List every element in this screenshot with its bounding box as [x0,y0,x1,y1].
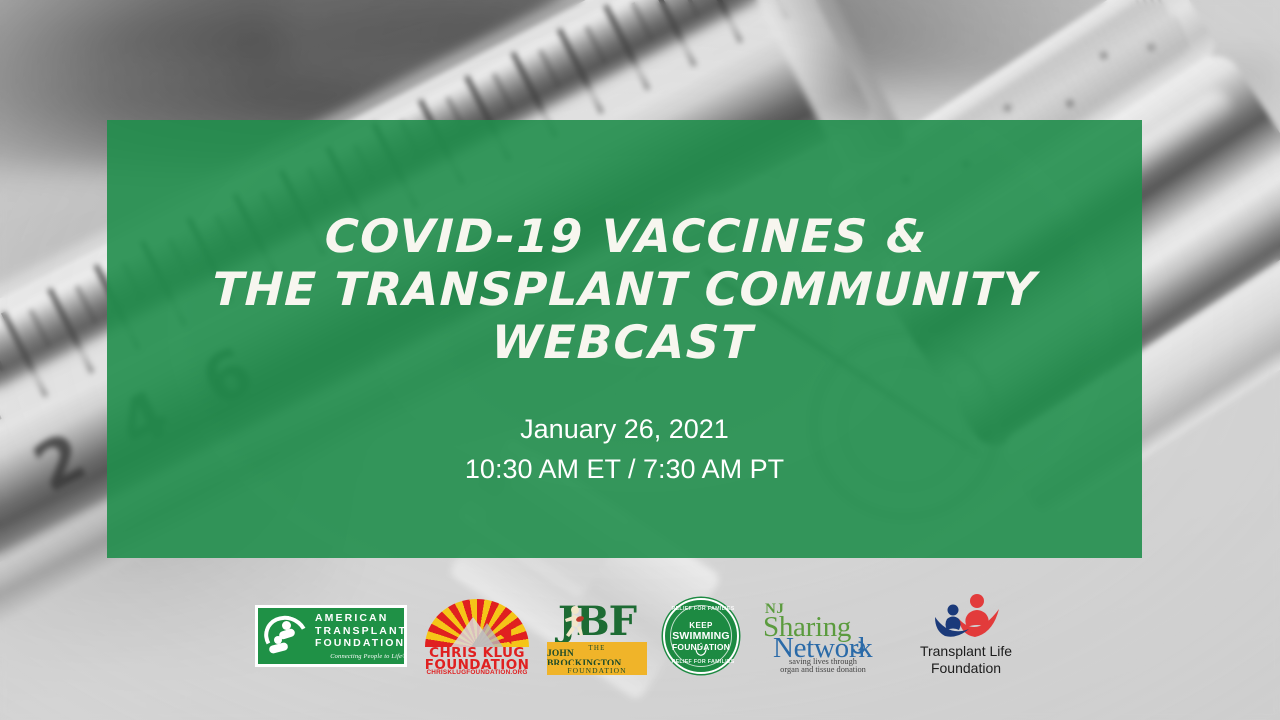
event-time: 10:30 AM ET / 7:30 AM PT [465,449,784,489]
laurel-wreath-icon [693,640,710,657]
logo-keep-swimming-foundation[interactable]: RELIEF FOR FAMILIES KEEP SWIMMING FOUNDA… [663,598,739,674]
logo-transplant-life-foundation[interactable]: Transplant Life Foundation [907,593,1025,679]
njsn-tagline-2: organ and tissue donation [755,665,891,674]
webcast-title-slide: 0 2 4 6 COVID-19 VACCINES & THE TRANSPLA… [0,0,1280,720]
logo-john-brockington-foundation[interactable]: JBF THE JOHN BROCKINGTON FOUNDATION [547,600,647,672]
ckf-url: CHRISKLUGFOUNDATION.ORG [423,669,531,676]
logo-nj-sharing-network[interactable]: NJ Sharing Network saving lives through … [755,599,891,673]
title-line-1: COVID-19 VACCINES & [108,210,1145,263]
page-title: COVID-19 VACCINES & THE TRANSPLANT COMMU… [104,210,1145,369]
ksf-line-1: KEEP [689,620,712,631]
title-line-2: THE TRANSPLANT COMMUNITY [106,263,1143,316]
atf-line-2: TRANSPLANT [315,625,407,638]
logo-chris-klug-foundation[interactable]: CHRIS KLUG FOUNDATION CHRISKLUGFOUNDATIO… [423,599,531,673]
football-player-icon [560,605,586,639]
american-transplant-foundation-icon [263,612,309,660]
title-line-3: WEBCAST [104,316,1141,369]
atf-line-3: FOUNDATION [315,637,407,650]
tlf-line-2: Foundation [907,660,1025,676]
jbf-line-3: FOUNDATION [567,666,626,675]
event-date: January 26, 2021 [465,409,784,449]
chris-klug-sunburst-icon [425,599,529,647]
tlf-line-1: Transplant Life [907,643,1025,659]
ksf-arc-bottom: RELIEF FOR FAMILIES [665,659,741,665]
sponsor-logo-strip: AMERICAN TRANSPLANT FOUNDATION Connectin… [0,586,1280,686]
logo-american-transplant-foundation[interactable]: AMERICAN TRANSPLANT FOUNDATION Connectin… [255,605,407,667]
event-details: January 26, 2021 10:30 AM ET / 7:30 AM P… [465,409,784,489]
atf-tagline: Connecting People to Life® [315,653,407,660]
transplant-life-figures-icon [929,593,1005,641]
spiral-icon [851,640,866,655]
title-panel: COVID-19 VACCINES & THE TRANSPLANT COMMU… [107,120,1142,558]
atf-line-1: AMERICAN [315,612,407,625]
